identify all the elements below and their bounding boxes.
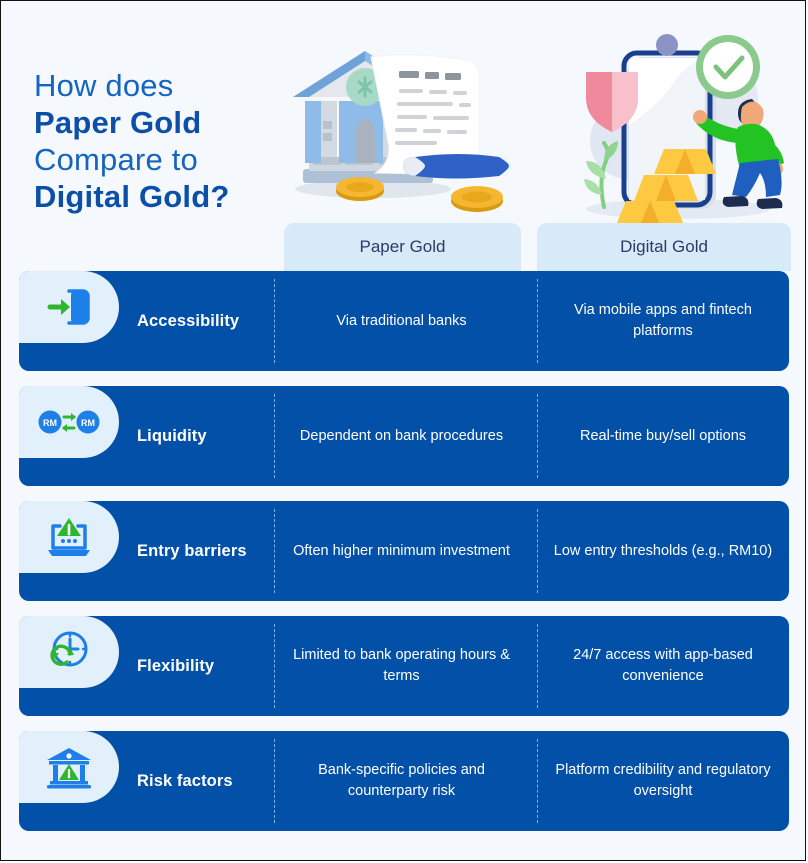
cell-paper-gold: Via traditional banks [274, 271, 529, 371]
column-header-digital-gold-label: Digital Gold [620, 237, 708, 257]
column-header-paper-gold-label: Paper Gold [360, 237, 446, 257]
row-icon-badge [19, 271, 119, 343]
row-icon-badge: RM RM [19, 386, 119, 458]
row-label: Accessibility [137, 271, 287, 371]
cell-digital-gold: Real-time buy/sell options [537, 386, 789, 486]
table-row: Accessibility Via traditional banks Via … [19, 271, 789, 371]
cell-paper-gold: Often higher minimum investment [274, 501, 529, 601]
column-header-paper-gold: Paper Gold [284, 223, 521, 271]
cell-digital-gold: Low entry thresholds (e.g., RM10) [537, 501, 789, 601]
row-label: Liquidity [137, 386, 287, 486]
comparison-table-body: Accessibility Via traditional banks Via … [1, 271, 806, 846]
infographic-frame: How does Paper Gold Compare to Digital G… [0, 0, 806, 861]
svg-text:RM: RM [43, 418, 57, 428]
table-row: Entry barriers Often higher minimum inve… [19, 501, 789, 601]
bank-certificate-coins-illustration [287, 29, 522, 219]
row-label: Entry barriers [137, 501, 287, 601]
laptop-warning-icon [44, 514, 94, 560]
cell-paper-gold: Dependent on bank procedures [274, 386, 529, 486]
row-label: Risk factors [137, 731, 287, 831]
cell-digital-gold: Via mobile apps and fintech platforms [537, 271, 789, 371]
cell-digital-gold: 24/7 access with app-based convenience [537, 616, 789, 716]
cell-paper-gold: Limited to bank operating hours & terms [274, 616, 529, 716]
title-line-1: How does [34, 67, 284, 104]
table-row: Flexibility Limited to bank operating ho… [19, 616, 789, 716]
table-row: Risk factors Bank-specific policies and … [19, 731, 789, 831]
row-icon-badge [19, 501, 119, 573]
hero-section: How does Paper Gold Compare to Digital G… [1, 1, 806, 226]
page-title: How does Paper Gold Compare to Digital G… [34, 67, 284, 215]
cell-digital-gold: Platform credibility and regulatory over… [537, 731, 789, 831]
table-row: RM RM Liquidity Dependent on bank proced… [19, 386, 789, 486]
title-line-2: Paper Gold [34, 104, 284, 141]
row-icon-badge [19, 616, 119, 688]
table-header-row: Paper Gold Digital Gold [1, 223, 806, 271]
svg-text:RM: RM [81, 418, 95, 428]
currency-exchange-rm-icon: RM RM [38, 405, 100, 439]
column-header-digital-gold: Digital Gold [537, 223, 791, 271]
title-line-3: Compare to [34, 141, 284, 178]
bank-warning-icon [43, 744, 95, 790]
door-entry-arrow-icon [44, 284, 94, 330]
clock-refresh-icon [44, 629, 94, 675]
title-line-4: Digital Gold? [34, 178, 284, 215]
row-icon-badge [19, 731, 119, 803]
smartphone-gold-bars-illustration [566, 29, 791, 224]
cell-paper-gold: Bank-specific policies and counterparty … [274, 731, 529, 831]
row-label: Flexibility [137, 616, 287, 716]
